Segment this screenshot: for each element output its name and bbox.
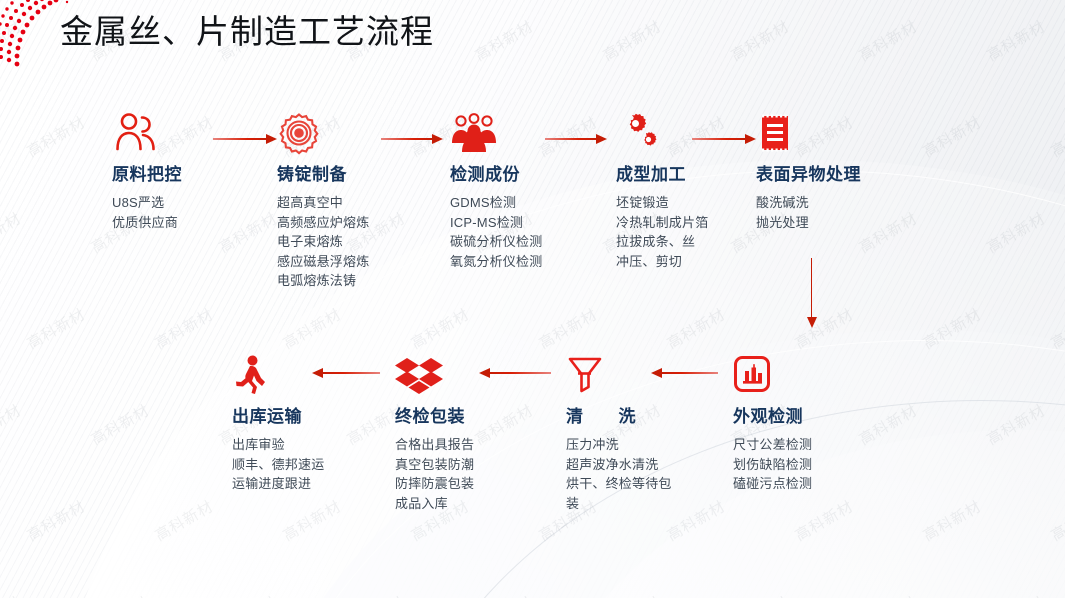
- step-line: 酸洗碱洗: [756, 193, 921, 213]
- arrow-head: [745, 134, 756, 144]
- step-title: 清 洗: [566, 406, 731, 428]
- step-line: 出库审验: [232, 435, 397, 455]
- step-lines: 超高真空中 高频感应炉熔炼 电子束熔炼 感应磁悬浮熔炼 电弧熔炼法铸: [277, 193, 442, 291]
- arrow-head: [807, 317, 817, 328]
- step-line: 超高真空中: [277, 193, 442, 213]
- step-line: 超声波净水清洗: [566, 455, 731, 475]
- walking-person-icon: [232, 352, 397, 398]
- step-line: 成品入库: [395, 494, 560, 514]
- arrow-shaft: [692, 138, 745, 140]
- step-lines: 压力冲洗 超声波净水清洗 烘干、终检等待包装: [566, 435, 731, 513]
- step-line: 顺丰、德邦速运: [232, 455, 397, 475]
- step-line: U8S严选: [112, 193, 277, 213]
- step-line: 感应磁悬浮熔炼: [277, 252, 442, 272]
- arrow-shaft: [545, 138, 596, 140]
- step-line: 烘干、终检等待包装: [566, 474, 678, 513]
- step-line: 高频感应炉熔炼: [277, 213, 442, 233]
- step-title: 铸锭制备: [277, 164, 442, 186]
- step-raw-material-control[interactable]: 原料把控 U8S严选 优质供应商: [112, 110, 277, 232]
- arrow-3-to-4: [545, 133, 607, 144]
- step-lines: U8S严选 优质供应商: [112, 193, 277, 232]
- step-line: 合格出具报告: [395, 435, 560, 455]
- page-title: 金属丝、片制造工艺流程: [60, 8, 434, 58]
- step-lines: 酸洗碱洗 抛光处理: [756, 193, 921, 232]
- step-title: 出库运输: [232, 406, 397, 428]
- arrow-2-to-3: [381, 133, 443, 144]
- step-line: 拉拔成条、丝: [616, 232, 781, 252]
- step-surface-foreign-matter-treatment[interactable]: 表面异物处理 酸洗碱洗 抛光处理: [756, 110, 921, 232]
- arrow-1-to-2: [213, 133, 277, 144]
- step-line: ICP-MS检测: [450, 213, 615, 233]
- step-line: 电子束熔炼: [277, 232, 442, 252]
- step-line: 真空包装防潮: [395, 455, 560, 475]
- step-line: 尺寸公差检测: [733, 435, 898, 455]
- step-title: 终检包装: [395, 406, 560, 428]
- arrow-head: [432, 134, 443, 144]
- arrow-head: [266, 134, 277, 144]
- step-line: 抛光处理: [756, 213, 921, 233]
- step-lines: 合格出具报告 真空包装防潮 防摔防震包装 成品入库: [395, 435, 560, 513]
- step-title: 检测成份: [450, 164, 615, 186]
- step-line: 磕碰污点检测: [733, 474, 898, 494]
- step-appearance-inspection[interactable]: 外观检测 尺寸公差检测 划伤缺陷检测 磕碰污点检测: [733, 352, 898, 494]
- step-lines: 出库审验 顺丰、德邦速运 运输进度跟进: [232, 435, 397, 494]
- step-line: 优质供应商: [112, 213, 277, 233]
- step-line: 冲压、剪切: [616, 252, 781, 272]
- arrow-row1-to-row2: [806, 258, 817, 328]
- step-line: 碳硫分析仪检测: [450, 232, 615, 252]
- step-line: 压力冲洗: [566, 435, 731, 455]
- title-bar: 金属丝、片制造工艺流程: [0, 0, 1065, 80]
- factory-frame-icon: [733, 352, 898, 398]
- open-box-icon: [395, 352, 560, 398]
- step-line: GDMS检测: [450, 193, 615, 213]
- arrow-head: [596, 134, 607, 144]
- step-title: 表面异物处理: [756, 164, 921, 186]
- step-line: 防摔防震包装: [395, 474, 560, 494]
- step-lines: GDMS检测 ICP-MS检测 碳硫分析仪检测 氧氮分析仪检测: [450, 193, 615, 271]
- arrow-shaft: [213, 138, 266, 140]
- step-title: 外观检测: [733, 406, 898, 428]
- step-cleaning[interactable]: 清 洗 压力冲洗 超声波净水清洗 烘干、终检等待包装: [566, 352, 731, 513]
- arrow-shaft: [811, 258, 813, 317]
- step-outbound-transport[interactable]: 出库运输 出库审验 顺丰、德邦速运 运输进度跟进: [232, 352, 397, 494]
- step-lines: 尺寸公差检测 划伤缺陷检测 磕碰污点检测: [733, 435, 898, 494]
- arrow-shaft: [381, 138, 432, 140]
- document-stack-icon: [756, 110, 921, 156]
- arrow-4-to-5: [692, 133, 756, 144]
- step-line: 电弧熔炼法铸: [277, 271, 442, 291]
- step-line: 运输进度跟进: [232, 474, 397, 494]
- step-title: 原料把控: [112, 164, 277, 186]
- step-final-inspection-packaging[interactable]: 终检包装 合格出具报告 真空包装防潮 防摔防震包装 成品入库: [395, 352, 560, 513]
- step-line: 氧氮分析仪检测: [450, 252, 615, 272]
- funnel-icon: [566, 352, 731, 398]
- step-line: 划伤缺陷检测: [733, 455, 898, 475]
